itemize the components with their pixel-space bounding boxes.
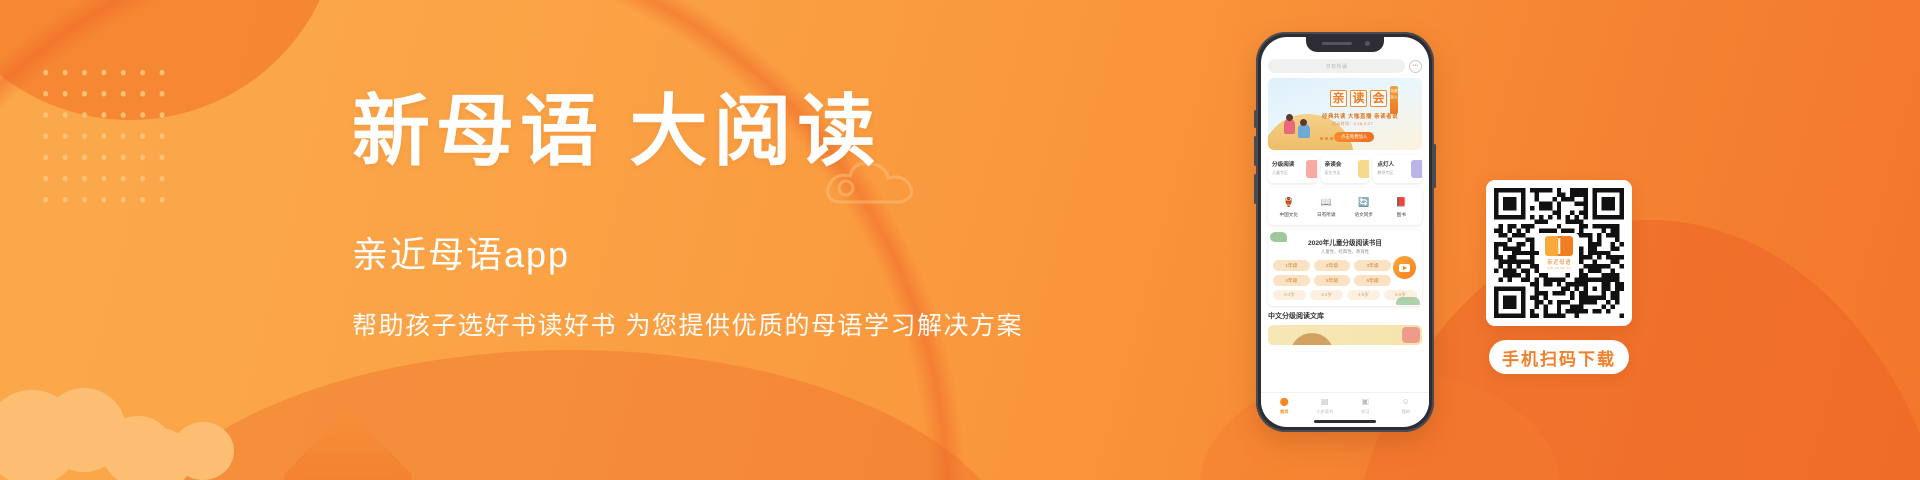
home-icon: ⬤ [1279, 396, 1290, 407]
zone-card-graded-reading[interactable]: 分级阅读 儿童专区 [1268, 155, 1317, 183]
tab-profile[interactable]: ☺ 我的 [1386, 396, 1427, 415]
zone-card-parent-club[interactable]: 亲读会 家长专区 [1321, 155, 1370, 183]
hero-title-char: 读 [1350, 90, 1367, 107]
hero-kid-illustration-1 [1284, 119, 1295, 134]
grade-chip[interactable]: 3年级 [1354, 260, 1391, 271]
phone-home-indicator [1314, 420, 1376, 423]
quick-nav-label: 中国文化 [1270, 212, 1308, 218]
scan-to-download-button[interactable]: 手机扫码下载 [1489, 340, 1629, 374]
leaf-decor-bottom-right [1396, 297, 1420, 305]
phone-volume-down-button [1254, 174, 1256, 204]
app-home-screen: 日有所诵 ••• 亲 读 会 免费加入 经典共读 大咖直播 亲读者说 活动时间：… [1261, 37, 1429, 427]
quick-nav-textbook-sync[interactable]: 🔄 语文同步 [1345, 195, 1383, 218]
qr-center-logo: 亲近母语 QIN JIN MU YU [1539, 233, 1579, 273]
age-chip[interactable]: 0-3岁 [1273, 290, 1306, 300]
grade-chip[interactable]: 5年级 [1314, 275, 1351, 286]
booklist-card: 2020年儿童分级阅读书目 儿童性、经典性、教育性 1年级 2年级 3年级 4年… [1268, 230, 1422, 306]
phone-screen: 日有所诵 ••• 亲 读 会 免费加入 经典共读 大咖直播 亲读者说 活动时间：… [1261, 37, 1429, 427]
decor-cloud-small [128, 408, 248, 480]
phone-notch [1306, 37, 1384, 52]
book-open-icon: 📖 [1319, 195, 1333, 209]
booklist-title: 2020年儿童分级阅读书目 [1273, 237, 1417, 247]
quick-nav-daily-recite[interactable]: 📖 日有所诵 [1308, 195, 1346, 218]
tab-label: 我的 [1386, 409, 1427, 415]
phone-power-button [1434, 144, 1436, 188]
age-chip[interactable]: 4-5岁 [1347, 290, 1380, 300]
grade-chip[interactable]: 6年级 [1354, 275, 1391, 286]
hero-title-char: 亲 [1330, 90, 1347, 107]
tab-label: 学习 [1345, 409, 1386, 415]
user-icon: ☺ [1400, 396, 1411, 407]
tab-label: 小步读书 [1305, 409, 1346, 415]
zone-card-teacher[interactable]: 点灯人 教师专区 [1373, 155, 1422, 183]
banner-copy: 新母语 大阅读 亲近母语app 帮助孩子选好书读好书 为您提供优质的母语学习解决… [352, 90, 1052, 342]
zone-decor-icon [1358, 160, 1369, 178]
hero-date: 活动时间：9.16-9.27 [1332, 121, 1373, 127]
hero-banner-card[interactable]: 亲 读 会 免费加入 经典共读 大咖直播 亲读者说 活动时间：9.16-9.27… [1268, 78, 1422, 150]
quick-nav-grid: 🏺 中国文化 📖 日有所诵 🔄 语文同步 📕 图书 [1268, 188, 1422, 225]
grade-chip[interactable]: 4年级 [1273, 275, 1310, 286]
phone-volume-up-button [1254, 136, 1256, 166]
book-logo-icon [1545, 236, 1573, 256]
quick-nav-label: 日有所诵 [1308, 212, 1346, 218]
sync-icon: 🔄 [1357, 195, 1371, 209]
zone-decor-icon [1306, 160, 1317, 178]
qr-download-block: 亲近母语 QIN JIN MU YU 手机扫码下载 [1486, 180, 1632, 374]
hero-carousel-dots[interactable] [1320, 137, 1333, 140]
hero-cta-button[interactable]: 点击免费加入 [1334, 132, 1374, 142]
app-name-subtitle: 亲近母语app [352, 226, 1052, 278]
tab-label: 首页 [1264, 409, 1305, 415]
phone-mockup: 日有所诵 ••• 亲 读 会 免费加入 经典共读 大咖直播 亲读者说 活动时间：… [1256, 32, 1434, 432]
hero-title-char: 会 [1370, 90, 1387, 107]
quick-nav-books[interactable]: 📕 图书 [1383, 195, 1421, 218]
tab-reader[interactable]: ▤ 小步读书 [1305, 396, 1346, 415]
app-search-row: 日有所诵 ••• [1268, 59, 1422, 73]
decor-dot-grid [36, 62, 172, 210]
grade-chip[interactable]: 2年级 [1314, 260, 1351, 271]
app-tabbar: ⬤ 首页 ▤ 小步读书 ▣ 学习 ☺ 我的 [1261, 392, 1429, 418]
library-section-title: 中文分级阅读文库 [1268, 311, 1422, 321]
tab-study[interactable]: ▣ 学习 [1345, 396, 1386, 415]
tab-home[interactable]: ⬤ 首页 [1264, 396, 1305, 415]
zone-card-row: 分级阅读 儿童专区 亲读会 家长专区 点灯人 教师专区 [1268, 155, 1422, 183]
booklist-subtitle: 儿童性、经典性、教育性 [1273, 249, 1417, 255]
qr-logo-cn: 亲近母语 [1547, 258, 1571, 266]
quick-nav-label: 语文同步 [1345, 212, 1383, 218]
library-card[interactable] [1268, 325, 1422, 345]
vase-icon: 🏺 [1282, 195, 1296, 209]
study-icon: ▣ [1360, 396, 1371, 407]
quick-nav-label: 图书 [1383, 212, 1421, 218]
page-title: 新母语 大阅读 [352, 90, 1052, 174]
leaf-decor-top-left [1270, 232, 1287, 242]
grade-chip[interactable]: 1年级 [1273, 260, 1310, 271]
age-row: 0-3岁 3-4岁 4-5岁 5-6岁 [1273, 290, 1417, 300]
qr-logo-en: QIN JIN MU YU [1547, 266, 1571, 270]
age-chip[interactable]: 3-4岁 [1310, 290, 1343, 300]
promo-banner: 新母语 大阅读 亲近母语app 帮助孩子选好书读好书 为您提供优质的母语学习解决… [0, 0, 1920, 480]
hero-title: 亲 读 会 [1330, 90, 1387, 107]
hero-subtitle: 经典共读 大咖直播 亲读者说 [1322, 112, 1398, 120]
quick-nav-chinese-culture[interactable]: 🏺 中国文化 [1270, 195, 1308, 218]
book-icon: 📕 [1394, 195, 1408, 209]
message-icon[interactable]: ••• [1409, 60, 1422, 73]
hero-kid-illustration-2 [1298, 124, 1310, 138]
reader-icon: ▤ [1319, 396, 1330, 407]
zone-decor-icon [1411, 160, 1422, 178]
qr-code-card[interactable]: 亲近母语 QIN JIN MU YU [1486, 180, 1632, 326]
hero-ribbon-badge: 免费加入 [1390, 86, 1398, 114]
video-play-icon[interactable] [1393, 256, 1416, 279]
phone-mute-switch [1254, 110, 1256, 128]
search-input[interactable]: 日有所诵 [1268, 59, 1405, 73]
grade-row-2: 4年级 5年级 6年级 [1273, 275, 1417, 286]
banner-tagline: 帮助孩子选好书读好书 为您提供优质的母语学习解决方案 [352, 306, 1052, 342]
